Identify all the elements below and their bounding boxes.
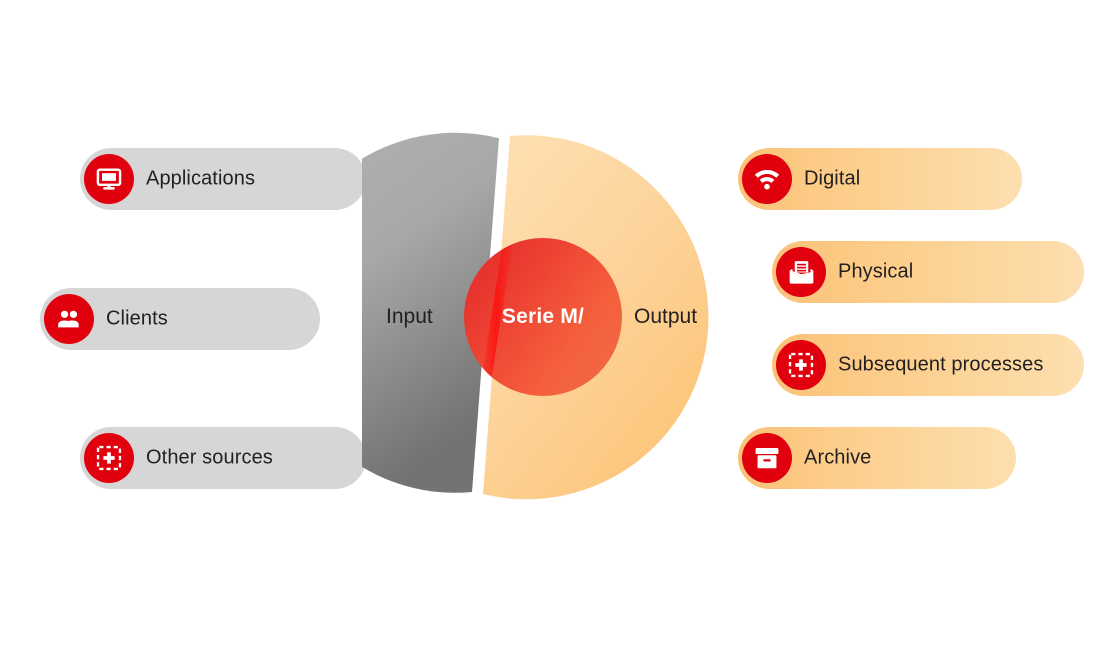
users-icon	[44, 294, 94, 344]
input-item-other-sources[interactable]: Other sources	[80, 427, 366, 489]
output-item-label: Subsequent processes	[838, 354, 1043, 377]
dashed-plus-icon	[776, 340, 826, 390]
output-item-label: Physical	[838, 261, 913, 284]
dashed-plus-icon	[84, 433, 134, 483]
output-segment-label: Output	[634, 305, 697, 329]
output-item-digital[interactable]: Digital	[738, 148, 1022, 210]
input-segment-label: Input	[386, 305, 433, 329]
open-envelope-icon	[776, 247, 826, 297]
output-item-physical[interactable]: Physical	[772, 241, 1084, 303]
wifi-icon	[742, 154, 792, 204]
output-item-label: Archive	[804, 447, 871, 470]
archive-box-icon	[742, 433, 792, 483]
input-item-clients[interactable]: Clients	[40, 288, 320, 350]
input-item-label: Clients	[106, 308, 168, 331]
input-item-label: Applications	[146, 168, 255, 191]
output-item-subsequent-processes[interactable]: Subsequent processes	[772, 334, 1084, 396]
center-circle-label: Serie M/	[465, 305, 621, 329]
diagram-canvas: Applications Clients Other sources	[0, 0, 1111, 652]
monitor-icon	[84, 154, 134, 204]
input-item-label: Other sources	[146, 447, 273, 470]
output-item-label: Digital	[804, 168, 860, 191]
output-item-archive[interactable]: Archive	[738, 427, 1016, 489]
input-item-applications[interactable]: Applications	[80, 148, 366, 210]
